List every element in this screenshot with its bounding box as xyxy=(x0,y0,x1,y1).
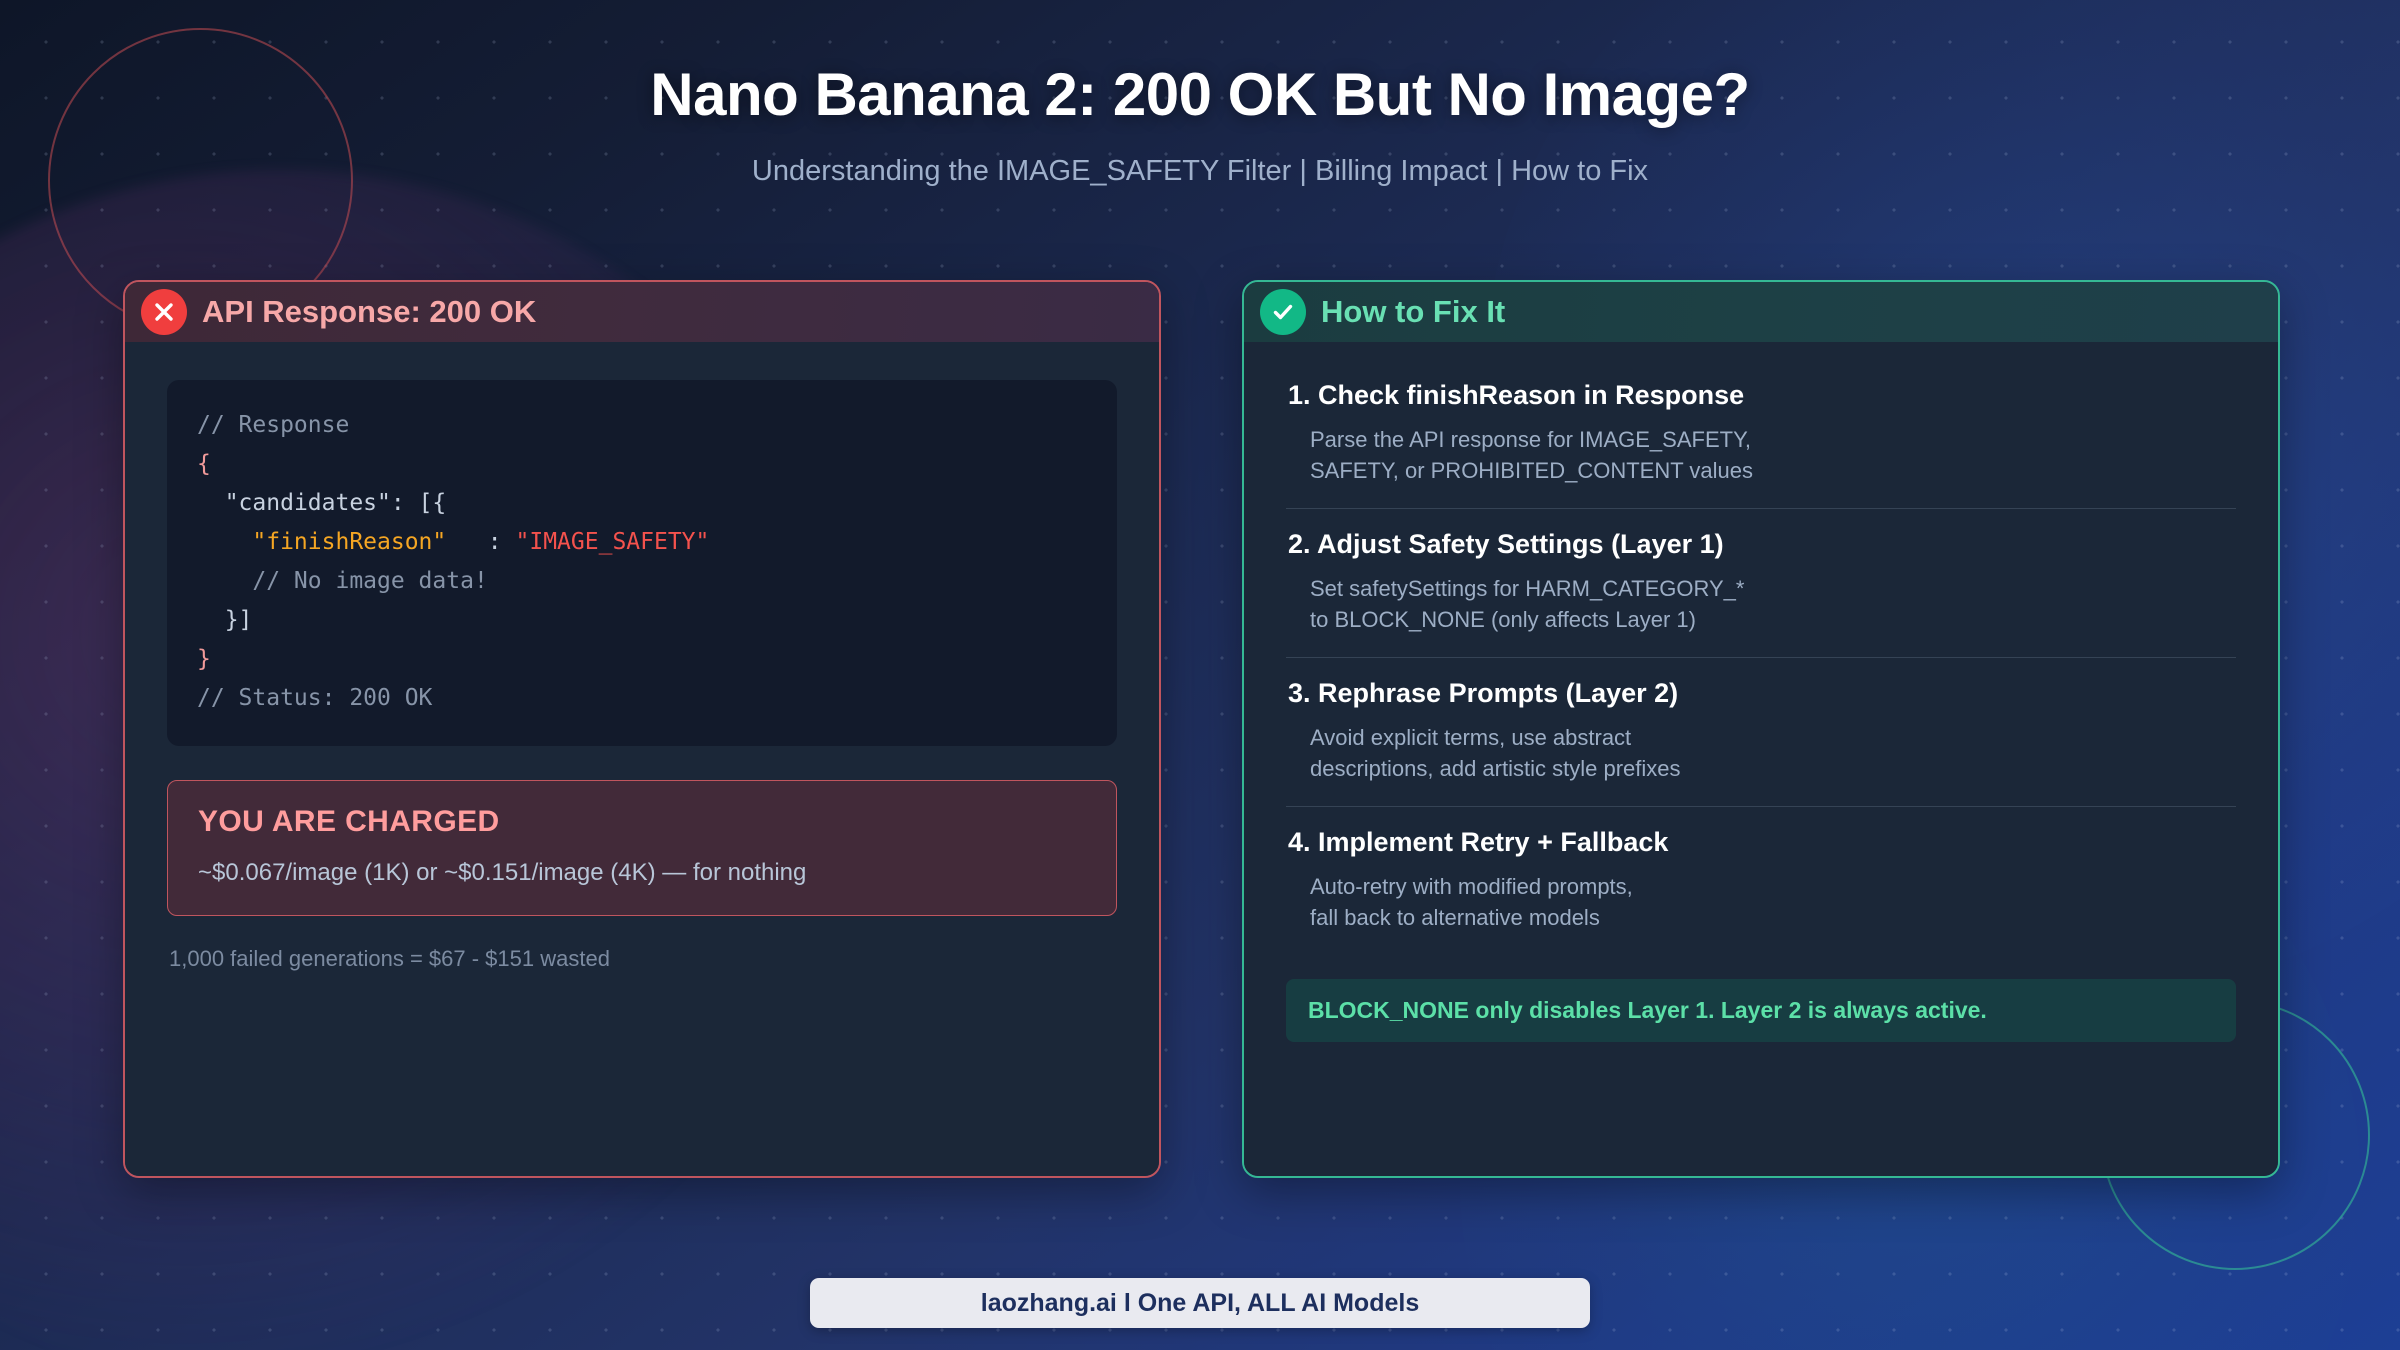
fix-step-1: 1. Check finishReason in Response Parse … xyxy=(1286,376,2236,508)
how-to-fix-card-title: How to Fix It xyxy=(1321,294,1505,330)
code-value-image-safety: "IMAGE_SAFETY" xyxy=(516,529,710,555)
code-close-brace: } xyxy=(197,646,211,672)
block-none-note-text: BLOCK_NONE only disables Layer 1. Layer … xyxy=(1308,997,2214,1024)
code-line-comment-no-image: // No image data! xyxy=(252,568,487,594)
charged-warning-subtitle: ~$0.067/image (1K) or ~$0.151/image (4K)… xyxy=(198,859,1086,887)
code-line-comment-status: // Status: 200 OK xyxy=(197,685,432,711)
api-response-card-body: // Response { "candidates": [{ "finishRe… xyxy=(125,342,1159,1176)
api-response-card-header: API Response: 200 OK xyxy=(125,282,1159,342)
fix-step-2-description: Set safetySettings for HARM_CATEGORY_* t… xyxy=(1288,573,2236,635)
fix-step-3: 3. Rephrase Prompts (Layer 2) Avoid expl… xyxy=(1286,657,2236,806)
charged-warning-box: YOU ARE CHARGED ~$0.067/image (1K) or ~$… xyxy=(167,780,1117,916)
block-none-note-box: BLOCK_NONE only disables Layer 1. Layer … xyxy=(1286,979,2236,1042)
error-x-circle-icon xyxy=(141,289,187,335)
success-check-circle-icon xyxy=(1260,289,1306,335)
fix-step-4-title: 4. Implement Retry + Fallback xyxy=(1288,827,2236,858)
footer-brand-text: laozhang.ai l One API, ALL AI Models xyxy=(981,1289,1419,1318)
fix-step-2: 2. Adjust Safety Settings (Layer 1) Set … xyxy=(1286,508,2236,657)
page-subtitle: Understanding the IMAGE_SAFETY Filter | … xyxy=(0,155,2400,188)
code-key-candidates: "candidates" xyxy=(225,490,391,516)
api-response-code-block: // Response { "candidates": [{ "finishRe… xyxy=(167,380,1117,746)
poster-header: Nano Banana 2: 200 OK But No Image? Unde… xyxy=(0,60,2400,188)
code-close-bracket: }] xyxy=(225,607,253,633)
how-to-fix-card: How to Fix It 1. Check finishReason in R… xyxy=(1242,280,2280,1178)
charged-warning-title: YOU ARE CHARGED xyxy=(198,805,1086,839)
poster-canvas: Nano Banana 2: 200 OK But No Image? Unde… xyxy=(0,0,2400,1350)
wasted-cost-note: 1,000 failed generations = $67 - $151 wa… xyxy=(169,946,1117,972)
fix-step-4: 4. Implement Retry + Fallback Auto-retry… xyxy=(1286,806,2236,955)
fix-step-4-description: Auto-retry with modified prompts, fall b… xyxy=(1288,871,2236,933)
code-key-finishreason: "finishReason" xyxy=(252,529,446,555)
fix-step-3-title: 3. Rephrase Prompts (Layer 2) xyxy=(1288,678,2236,709)
how-to-fix-card-header: How to Fix It xyxy=(1244,282,2278,342)
code-line-open-brace: { xyxy=(197,451,211,477)
code-candidates-rest: : [{ xyxy=(391,490,446,516)
fix-step-1-description: Parse the API response for IMAGE_SAFETY,… xyxy=(1288,424,2236,486)
footer-brand-badge[interactable]: laozhang.ai l One API, ALL AI Models xyxy=(810,1278,1590,1328)
code-colon-separator: : xyxy=(446,529,515,555)
api-response-card-title: API Response: 200 OK xyxy=(202,294,536,330)
api-response-card: API Response: 200 OK // Response { "cand… xyxy=(123,280,1161,1178)
how-to-fix-card-body: 1. Check finishReason in Response Parse … xyxy=(1244,342,2278,1176)
fix-step-3-description: Avoid explicit terms, use abstract descr… xyxy=(1288,722,2236,784)
fix-step-2-title: 2. Adjust Safety Settings (Layer 1) xyxy=(1288,529,2236,560)
fix-step-1-title: 1. Check finishReason in Response xyxy=(1288,380,2236,411)
page-title: Nano Banana 2: 200 OK But No Image? xyxy=(0,60,2400,129)
code-line-comment-response: // Response xyxy=(197,412,349,438)
